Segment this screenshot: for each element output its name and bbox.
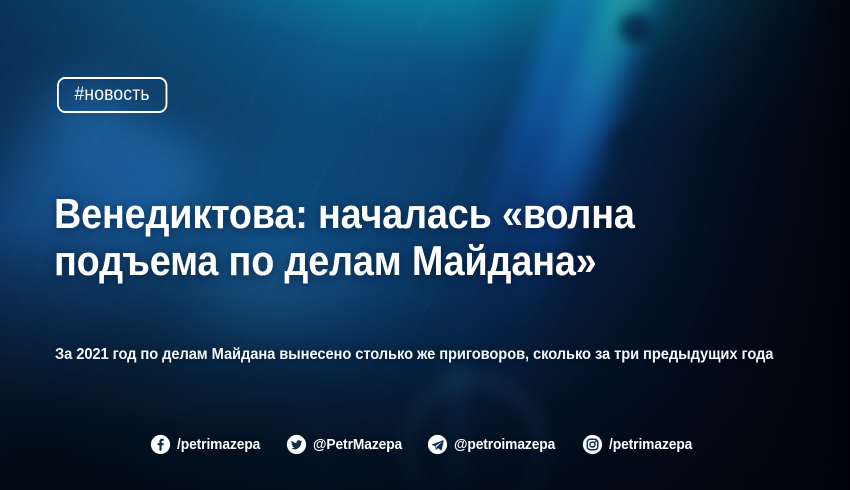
page-title: Венедиктова: началась «волна подъема по … xyxy=(54,190,747,284)
instagram-icon xyxy=(582,434,603,455)
twitter-icon xyxy=(286,434,307,455)
news-card: #новость Венедиктова: началась «волна по… xyxy=(0,0,850,490)
social-link-telegram[interactable]: @petroimazepa xyxy=(427,434,564,455)
social-handle: /petrimazepa xyxy=(177,436,260,453)
category-badge[interactable]: #новость xyxy=(57,77,167,113)
social-link-facebook[interactable]: /petrimazepa xyxy=(150,434,268,455)
social-link-twitter[interactable]: @PetrMazepa xyxy=(286,434,410,455)
social-handle: @PetrMazepa xyxy=(313,436,402,453)
subtitle: За 2021 год по делам Майдана вынесено ст… xyxy=(55,344,782,365)
facebook-icon xyxy=(150,434,171,455)
card-content: #новость Венедиктова: началась «волна по… xyxy=(0,0,850,490)
social-handle: /petrimazepa xyxy=(609,436,692,453)
social-link-instagram[interactable]: /petrimazepa xyxy=(582,434,700,455)
telegram-icon xyxy=(427,434,448,455)
social-handle: @petroimazepa xyxy=(454,436,555,453)
social-links-row: /petrimazepa @PetrMazepa @petroimazepa xyxy=(0,434,850,455)
